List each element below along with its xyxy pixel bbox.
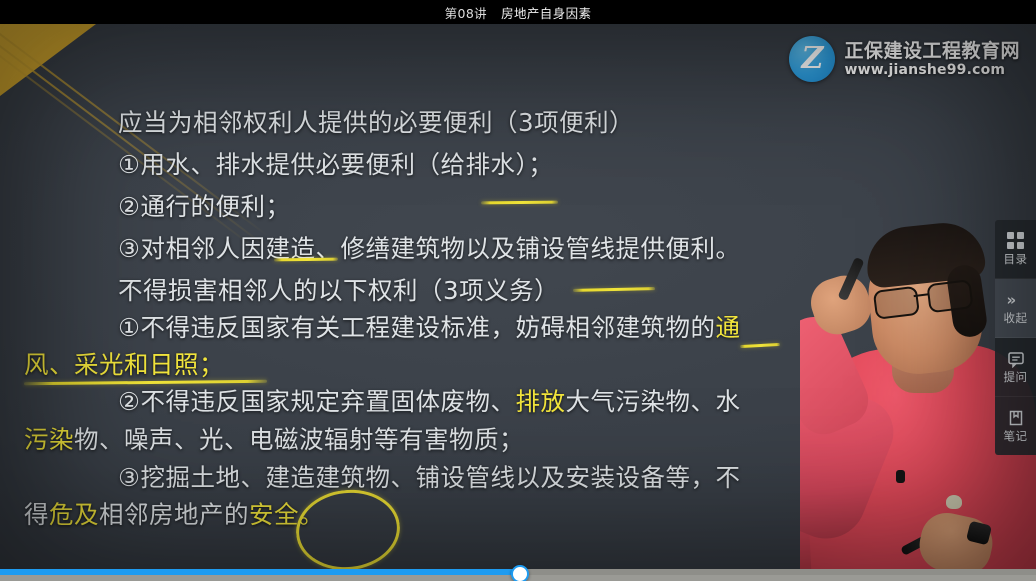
slide-text: ②不得违反国家规定弃置固体废物、	[118, 387, 515, 416]
slide-text: 大气污染物、水	[565, 387, 740, 416]
progress-track[interactable]	[0, 569, 1036, 575]
slide-line: 不得损害相邻人的以下权利（3项义务）	[118, 271, 559, 311]
grid-icon	[1007, 232, 1025, 250]
logo-mark-icon: Z	[789, 36, 835, 82]
progress-fill	[0, 569, 518, 575]
lesson-number: 第08讲	[445, 3, 488, 22]
player-controls-bar[interactable]	[0, 569, 1036, 581]
highlighted-text: 排放	[515, 387, 565, 416]
slide-text: ①不得违反国家有关工程建设标准，妨碍相邻建筑物的	[118, 313, 715, 342]
slide-text: ②通行的便利；	[118, 192, 290, 221]
highlighted-text: 风、采光和日照；	[24, 350, 224, 379]
slide-line: ②不得违反国家规定弃置固体废物、排放大气污染物、水	[118, 382, 740, 422]
slide-text: 物、噪声、光、电磁波辐射等有害物质；	[74, 425, 524, 454]
site-logo: Z 正保建设工程教育网 www.jianshe99.com	[789, 36, 1020, 82]
slide-line: ③对相邻人因建造、修缮建筑物以及铺设管线提供便利。	[118, 229, 740, 269]
slide-line: ②通行的便利；	[118, 187, 290, 227]
slide-line: ①不得违反国家有关工程建设标准，妨碍相邻建筑物的通	[118, 308, 740, 348]
chevron-double-right-icon: »	[1007, 291, 1025, 309]
slide-text: ③挖掘土地、建造建筑物、铺设管线以及安装设备等，不	[118, 463, 740, 492]
slide-text: ③对相邻人因建造、修缮建筑物以及铺设管线提供便利。	[118, 234, 740, 263]
presenter-lapel-mic	[896, 470, 905, 483]
rail-item-collapse-label: 收起	[1004, 313, 1028, 325]
chat-bubble-icon	[1007, 350, 1025, 368]
logo-letter: Z	[789, 44, 835, 74]
rail-item-notes-label: 笔记	[1004, 431, 1028, 443]
rail-item-notes[interactable]: 笔记	[995, 397, 1036, 455]
slide-text: 不得损害相邻人的以下权利（3项义务）	[118, 276, 559, 305]
rail-item-collapse[interactable]: » 收起	[995, 279, 1036, 338]
rail-item-catalog-label: 目录	[1004, 254, 1028, 266]
slide-line: 得危及相邻房地产的安全。	[24, 495, 324, 535]
slide-line: ①用水、排水提供必要便利（给排水）；	[118, 145, 553, 185]
video-player-window: 第08讲 房地产自身因素 应当为相邻权利人提供的必要便利（3项便利） ①用水、排…	[0, 0, 1036, 581]
rail-item-ask[interactable]: 提问	[995, 338, 1036, 397]
slide-text: 得	[24, 500, 49, 529]
shirt-logo	[946, 495, 962, 509]
slide-line: 风、采光和日照；	[24, 345, 224, 385]
highlighted-text: 危及	[49, 500, 99, 529]
logo-site-name: 正保建设工程教育网	[844, 42, 1020, 61]
progress-handle[interactable]	[511, 565, 529, 581]
rail-item-ask-label: 提问	[1004, 372, 1028, 384]
highlighted-text: 通	[715, 313, 740, 342]
video-stage[interactable]: 应当为相邻权利人提供的必要便利（3项便利） ①用水、排水提供必要便利（给排水）；…	[0, 24, 1036, 569]
slide-text: ①用水、排水提供必要便利（给排水）；	[118, 150, 553, 179]
slide-text: 应当为相邻权利人提供的必要便利（3项便利）	[118, 108, 634, 137]
rail-item-catalog[interactable]: 目录	[995, 220, 1036, 279]
note-icon	[1007, 409, 1025, 427]
window-title-bar: 第08讲 房地产自身因素	[0, 0, 1036, 24]
highlighted-text: 污染	[24, 425, 74, 454]
lesson-title: 房地产自身因素	[501, 3, 591, 22]
slide-line: 应当为相邻权利人提供的必要便利（3项便利）	[118, 103, 634, 143]
logo-site-url: www.jianshe99.com	[844, 63, 1020, 77]
tool-rail: 目录 » 收起 提问	[995, 220, 1036, 455]
slide-text: 相邻房地产的	[99, 500, 249, 529]
slide-line: ③挖掘土地、建造建筑物、铺设管线以及安装设备等，不	[118, 458, 740, 498]
slide-line: 污染物、噪声、光、电磁波辐射等有害物质；	[24, 420, 524, 460]
